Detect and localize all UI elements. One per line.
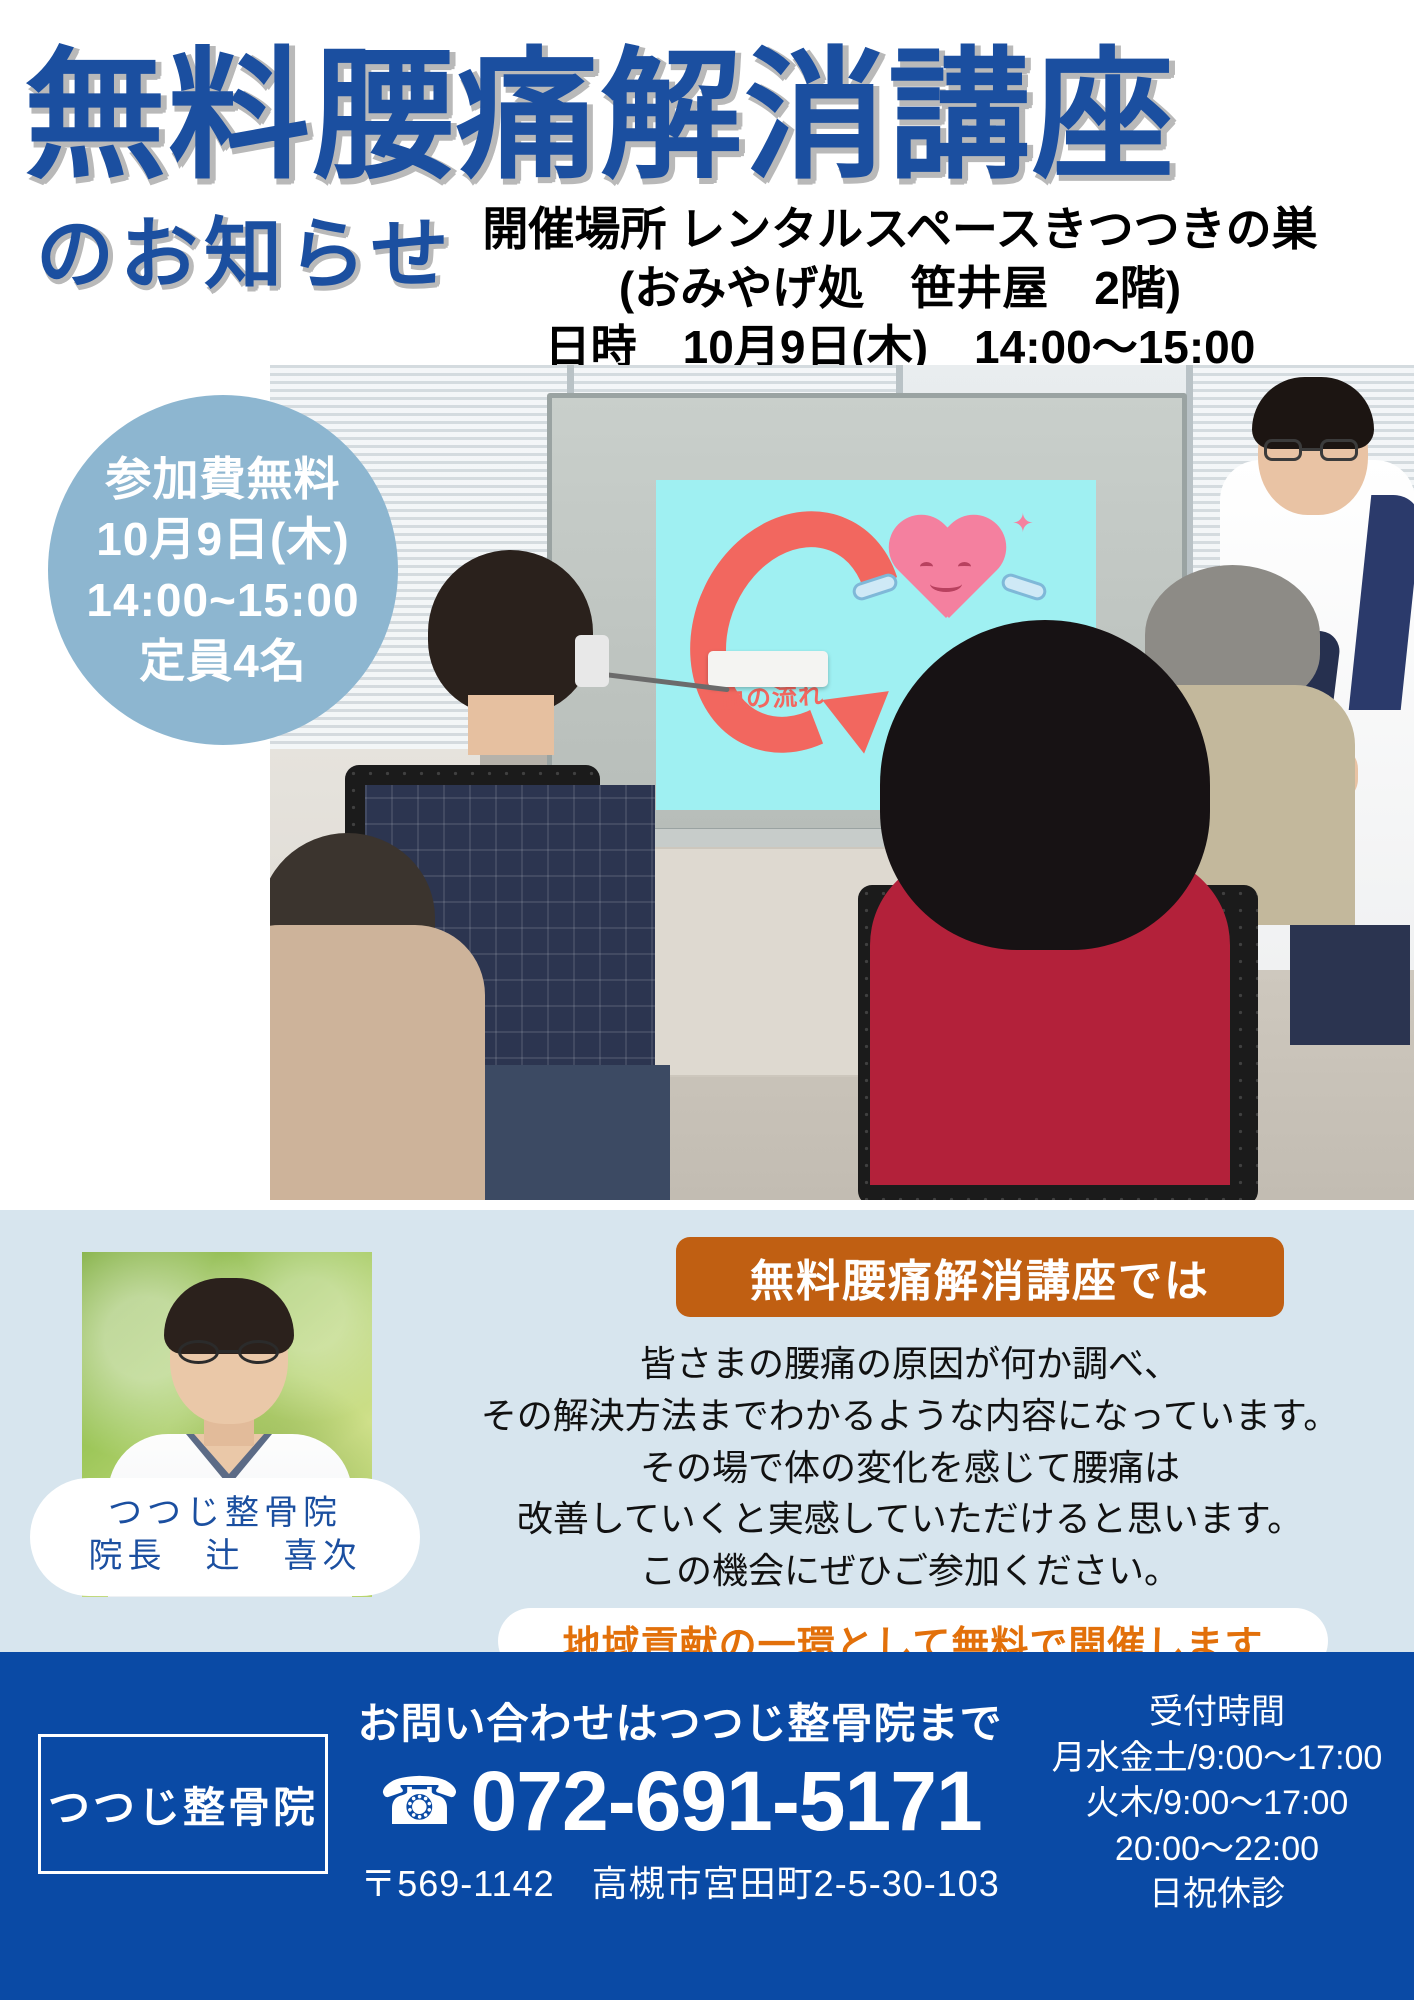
attendee-2-neck	[468, 695, 554, 755]
copy-line-5: この機会にぜひご参加ください。	[430, 1545, 1390, 1597]
hours-line-closed: 日祝休診	[1020, 1872, 1414, 1918]
copy-line-3: その場で体の変化を感じて腰痛は	[430, 1442, 1390, 1494]
sparkle-icon: ✦	[1012, 508, 1034, 539]
contact-block: お問い合わせはつつじ整骨院まで ☎ 072-691-5171 〒569-1142…	[330, 1690, 1030, 1907]
doctor-lens-right	[238, 1340, 279, 1364]
heart-eye-right-icon	[958, 562, 971, 571]
doctor-glasses-bridge	[219, 1350, 238, 1353]
section-banner-label: 無料腰痛解消講座では	[750, 1245, 1210, 1309]
projector	[708, 651, 828, 687]
poster-subheadline: のお知らせ	[36, 215, 454, 293]
description-copy: 皆さまの腰痛の原因が何か調べ、 その解決方法までわかるような内容になっています。…	[430, 1338, 1390, 1597]
badge-line-time: 14:00~15:00	[86, 570, 359, 631]
attendee-1-body	[270, 925, 485, 1200]
presenter-glasses-icon	[1264, 439, 1362, 461]
presenter-lens-right	[1320, 439, 1358, 461]
attendee-2-legs	[460, 1065, 670, 1200]
heart-eye-left-icon	[920, 562, 933, 571]
doctor-glasses-icon	[178, 1340, 282, 1364]
business-hours-block: 受付時間 月水金土/9:00〜17:00 火木/9:00〜17:00 20:00…	[1020, 1690, 1414, 1918]
contact-heading: お問い合わせはつつじ整骨院まで	[330, 1690, 1030, 1751]
attendee-2-mask	[575, 635, 609, 687]
heart-mouth-icon	[930, 576, 962, 592]
hours-line-mwfs: 月水金土/9:00〜17:00	[1020, 1736, 1414, 1782]
description-section: つつじ整骨院 院長 辻 喜次 無料腰痛解消講座では 皆さまの腰痛の原因が何か調べ…	[0, 1210, 1414, 1652]
phone-icon: ☎	[378, 1768, 460, 1834]
doctor-name-plate: つつじ整骨院 院長 辻 喜次	[30, 1478, 420, 1596]
seminar-room-photo: ✦ 血の流れ	[270, 365, 1414, 1200]
presenter-glasses-bridge	[1302, 448, 1320, 451]
presenter-legs	[1290, 925, 1410, 1045]
section-banner: 無料腰痛解消講座では	[676, 1237, 1284, 1317]
attendee-3-hair	[880, 620, 1210, 950]
clinic-logo: つつじ整骨院	[38, 1734, 328, 1874]
copy-line-2: その解決方法までわかるような内容になっています。	[430, 1390, 1390, 1442]
copy-line-1: 皆さまの腰痛の原因が何か調べ、	[430, 1338, 1390, 1390]
event-info-block: 開催場所 レンタルスペースきつつきの巣 (おみやげ処 笹井屋 2階) 日時 10…	[400, 200, 1400, 377]
hours-line-tuth: 火木/9:00〜17:00	[1020, 1781, 1414, 1827]
event-venue-line: 開催場所 レンタルスペースきつつきの巣	[400, 200, 1400, 259]
clinic-address: 〒569-1142 高槻市宮田町2-5-30-103	[330, 1855, 1030, 1907]
badge-line-fee: 参加費無料	[106, 449, 341, 510]
attendee-2-head	[428, 550, 593, 715]
presenter-lens-left	[1264, 439, 1302, 461]
heart-face-icon	[918, 562, 978, 596]
hours-heading: 受付時間	[1020, 1690, 1414, 1736]
badge-line-capacity: 定員4名	[139, 631, 307, 692]
price-date-badge: 参加費無料 10月9日(木) 14:00~15:00 定員4名	[48, 395, 398, 745]
clinic-logo-label: つつじ整骨院	[48, 1774, 318, 1835]
top-section: 無料腰痛解消講座 のお知らせ 開催場所 レンタルスペースきつつきの巣 (おみやげ…	[0, 0, 1414, 1210]
copy-line-4: 改善していくと実感していただけると思います。	[430, 1493, 1390, 1545]
phone-row[interactable]: ☎ 072-691-5171	[330, 1757, 1030, 1845]
footer-contact-bar: つつじ整骨院 お問い合わせはつつじ整骨院まで ☎ 072-691-5171 〒5…	[0, 1652, 1414, 2000]
phone-number[interactable]: 072-691-5171	[471, 1757, 982, 1845]
hours-line-evening: 20:00〜22:00	[1020, 1827, 1414, 1873]
clinic-name-label: つつじ整骨院	[30, 1492, 420, 1535]
event-venue-detail-line: (おみやげ処 笹井屋 2階)	[400, 259, 1400, 318]
badge-line-date: 10月9日(木)	[96, 509, 349, 570]
doctor-lens-left	[178, 1340, 219, 1364]
poster-headline: 無料腰痛解消講座	[24, 46, 1404, 188]
director-name-label: 院長 辻 喜次	[30, 1535, 420, 1578]
